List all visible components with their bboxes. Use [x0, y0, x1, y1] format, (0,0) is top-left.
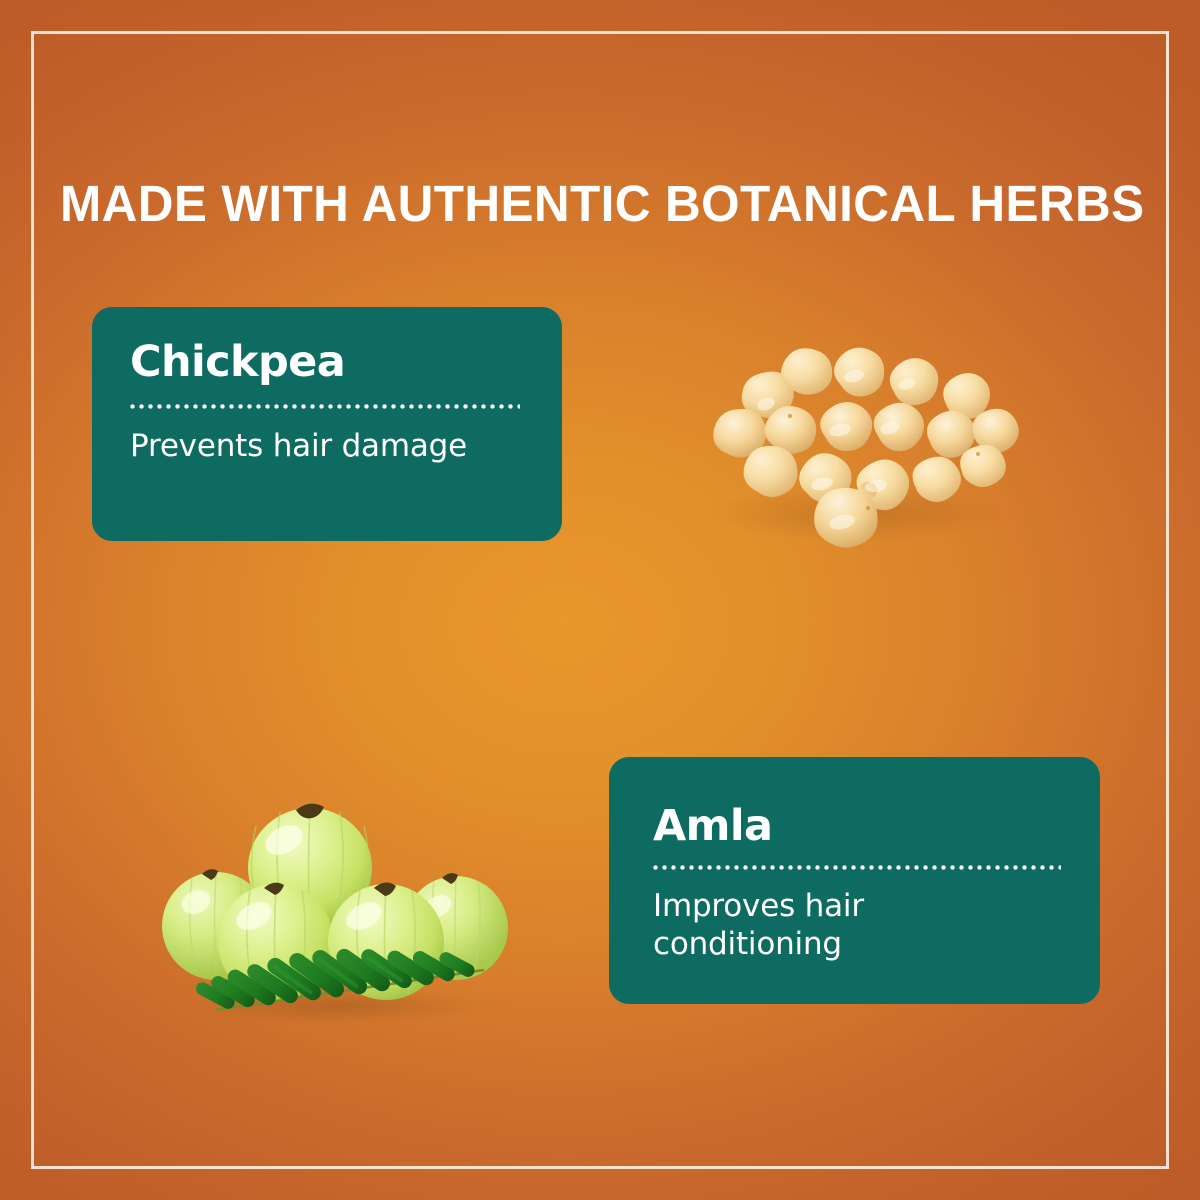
dotted-divider: [653, 865, 1061, 870]
page-title: MADE WITH AUTHENTIC BOTANICAL HERBS: [60, 175, 1117, 233]
ingredient-card-amla: Amla Improves hair conditioning: [609, 757, 1100, 1004]
chickpea-pile-image: [662, 296, 1042, 556]
promo-poster: MADE WITH AUTHENTIC BOTANICAL HERBS: [0, 0, 1200, 1200]
dotted-divider: [130, 404, 520, 409]
ingredient-benefit: Improves hair conditioning: [653, 887, 1062, 963]
amla-fruit-image: [138, 778, 528, 1028]
ingredient-title: Amla: [653, 801, 1062, 851]
ingredient-benefit: Prevents hair damage: [130, 427, 524, 465]
ingredient-card-chickpea: Chickpea Prevents hair damage: [92, 307, 562, 541]
ingredient-title: Chickpea: [130, 337, 524, 387]
